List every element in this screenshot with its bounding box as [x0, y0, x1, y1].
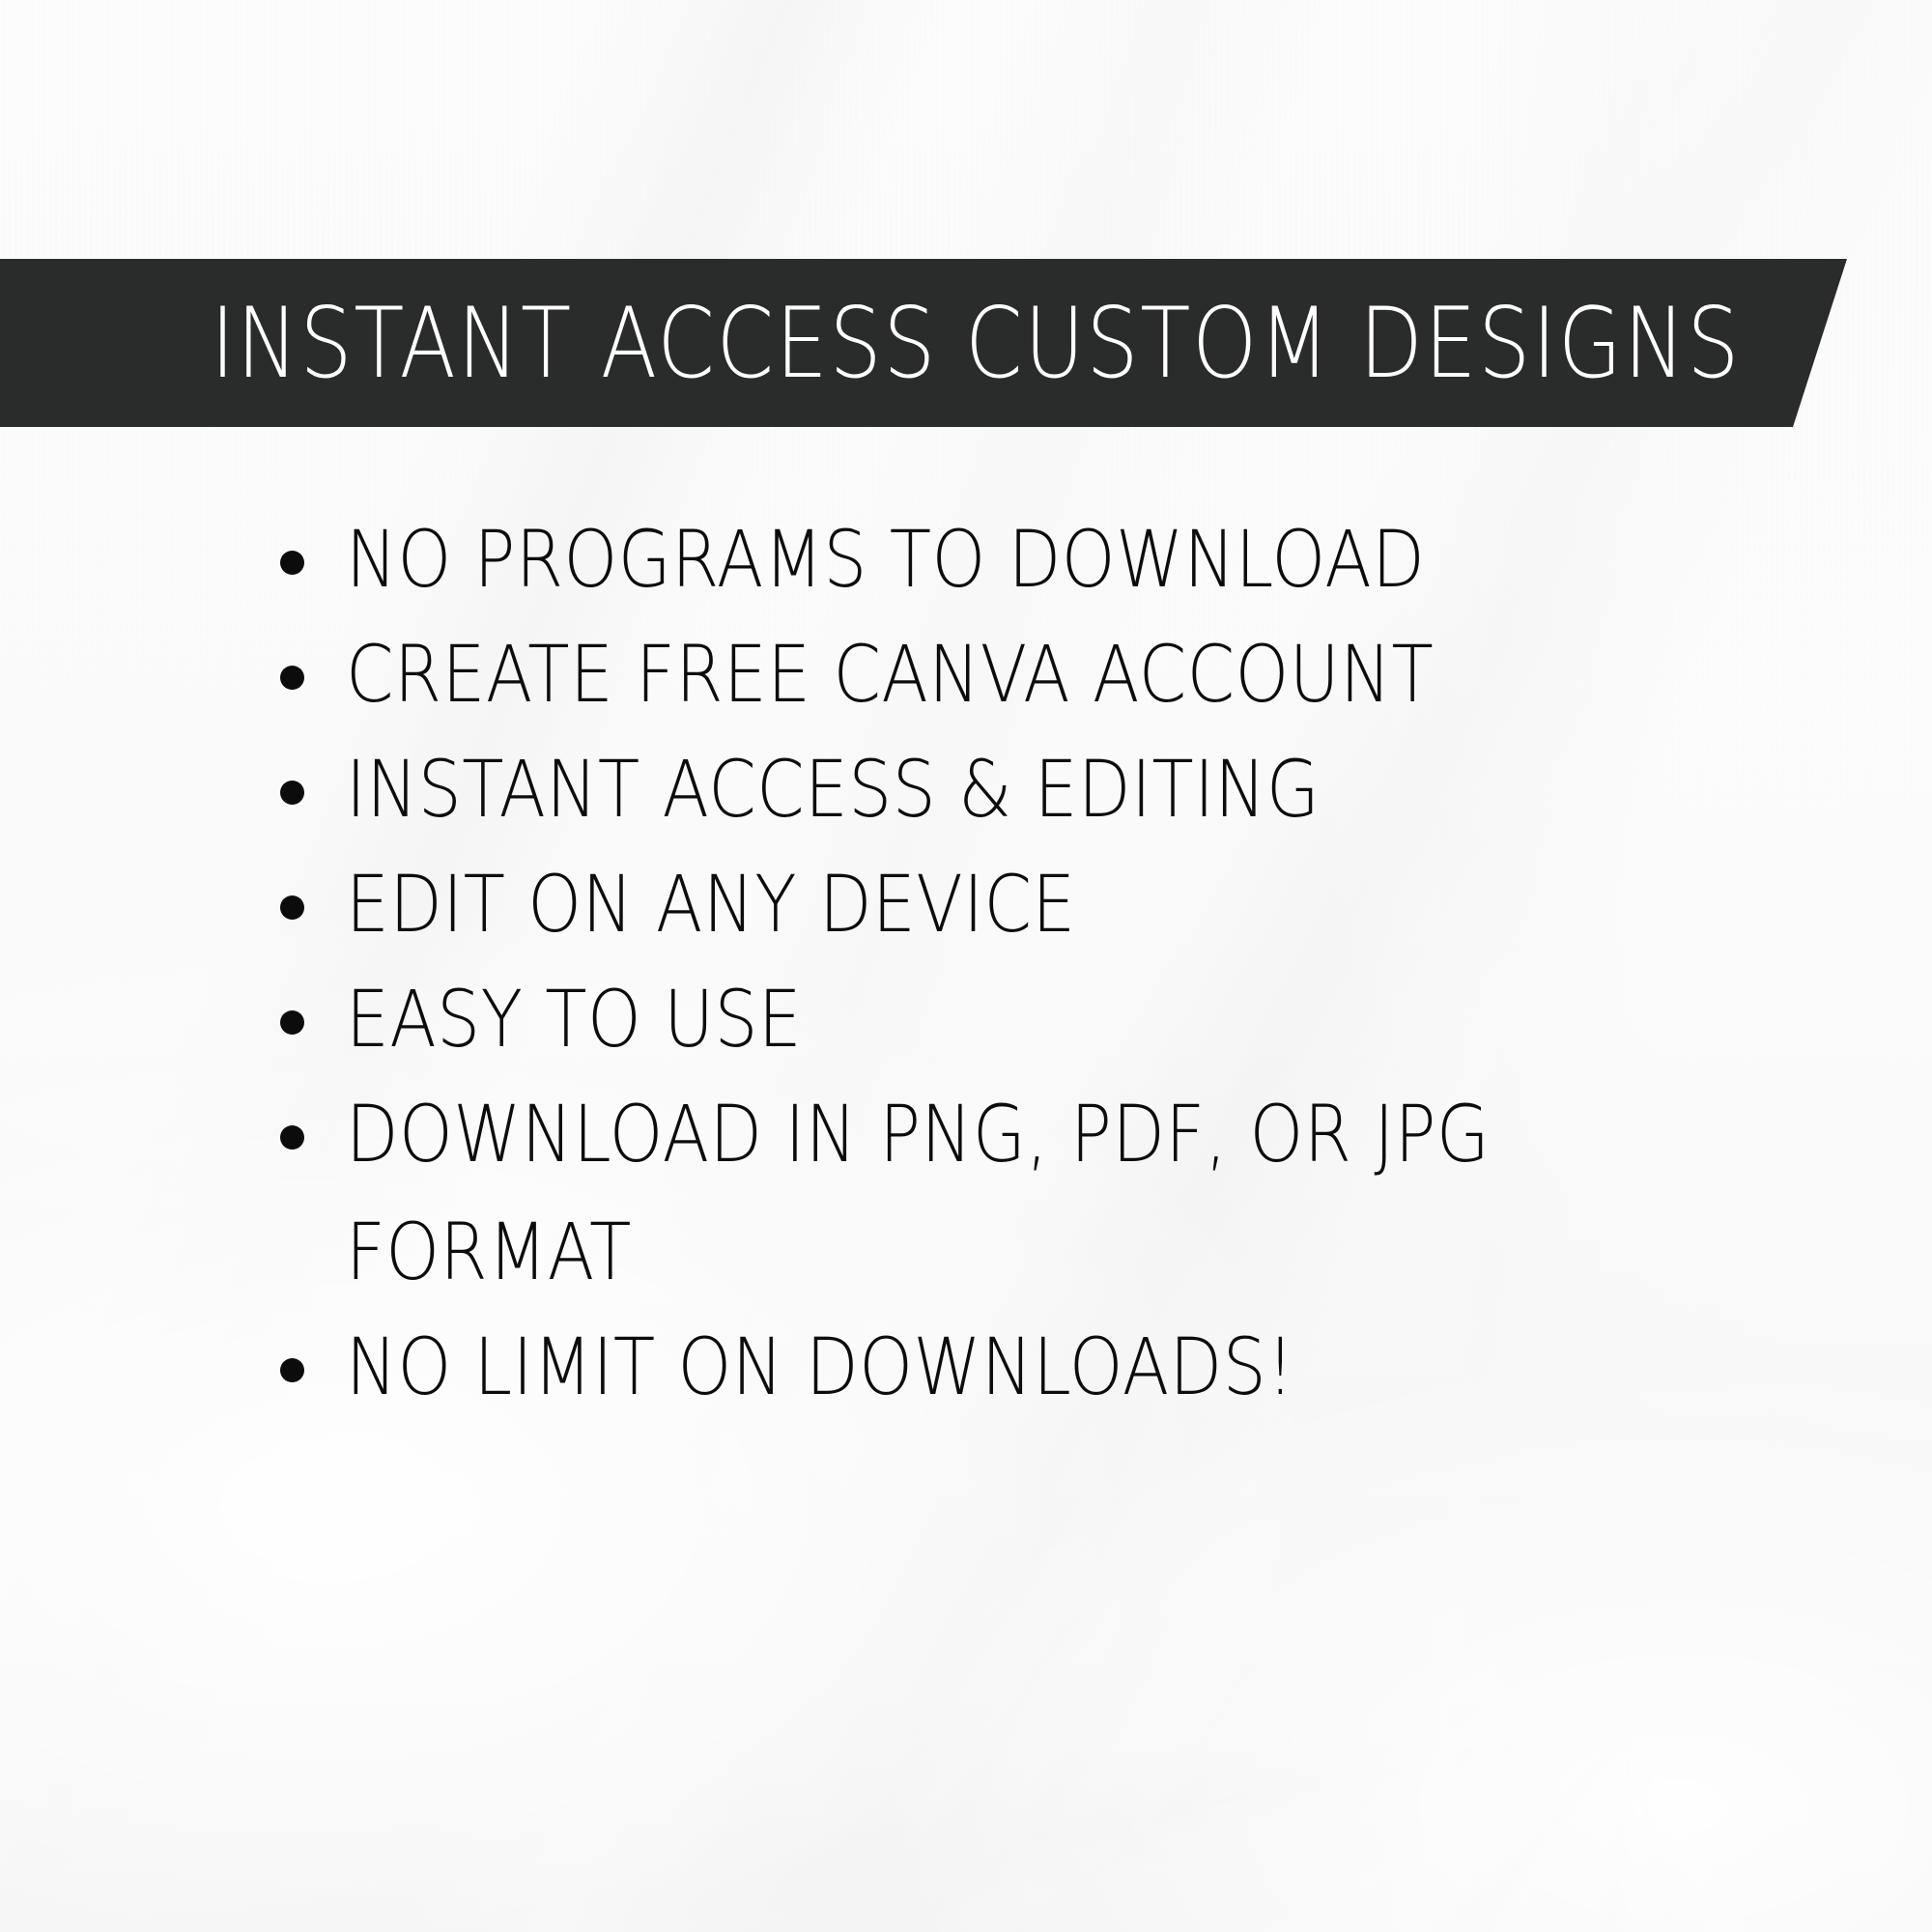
list-item: NO LIMIT ON DOWNLOADS!: [280, 1329, 1729, 1407]
bullet-icon: [280, 551, 304, 575]
poster-canvas: INSTANT ACCESS CUSTOM DESIGNS NO PROGRAM…: [0, 0, 1932, 1932]
list-item: CREATE FREE CANVA ACCOUNT: [280, 637, 1729, 715]
feature-list: NO PROGRAMS TO DOWNLOAD CREATE FREE CANV…: [280, 522, 1729, 1444]
list-item-label: EASY TO USE: [346, 981, 1556, 1060]
list-item: INSTANT ACCESS & EDITING: [280, 752, 1729, 830]
list-item: EASY TO USE: [280, 981, 1729, 1060]
list-item-label: NO LIMIT ON DOWNLOADS!: [346, 1329, 1556, 1407]
bullet-icon: [280, 781, 304, 805]
list-item-label: INSTANT ACCESS & EDITING: [346, 752, 1556, 830]
header-banner: INSTANT ACCESS CUSTOM DESIGNS: [0, 259, 1847, 427]
list-item-label: EDIT ON ANY DEVICE: [346, 867, 1556, 945]
list-item-label-line1: DOWNLOAD IN PNG, PDF, OR JPG: [346, 1090, 1490, 1180]
bullet-icon: [280, 895, 304, 920]
list-item: DOWNLOAD IN PNG, PDF, OR JPG FORMAT: [280, 1096, 1729, 1293]
list-item-label: NO PROGRAMS TO DOWNLOAD: [346, 522, 1556, 600]
list-item-label: CREATE FREE CANVA ACCOUNT: [346, 637, 1556, 715]
page-title: INSTANT ACCESS CUSTOM DESIGNS: [211, 295, 1741, 392]
list-item-label: DOWNLOAD IN PNG, PDF, OR JPG FORMAT: [346, 1096, 1556, 1293]
bullet-icon: [280, 666, 304, 690]
bullet-icon: [280, 1010, 304, 1035]
list-item-label-line2: FORMAT: [346, 1214, 1556, 1293]
list-item: EDIT ON ANY DEVICE: [280, 867, 1729, 945]
bullet-icon: [280, 1358, 304, 1382]
list-item: NO PROGRAMS TO DOWNLOAD: [280, 522, 1729, 600]
bullet-icon: [280, 1125, 304, 1150]
